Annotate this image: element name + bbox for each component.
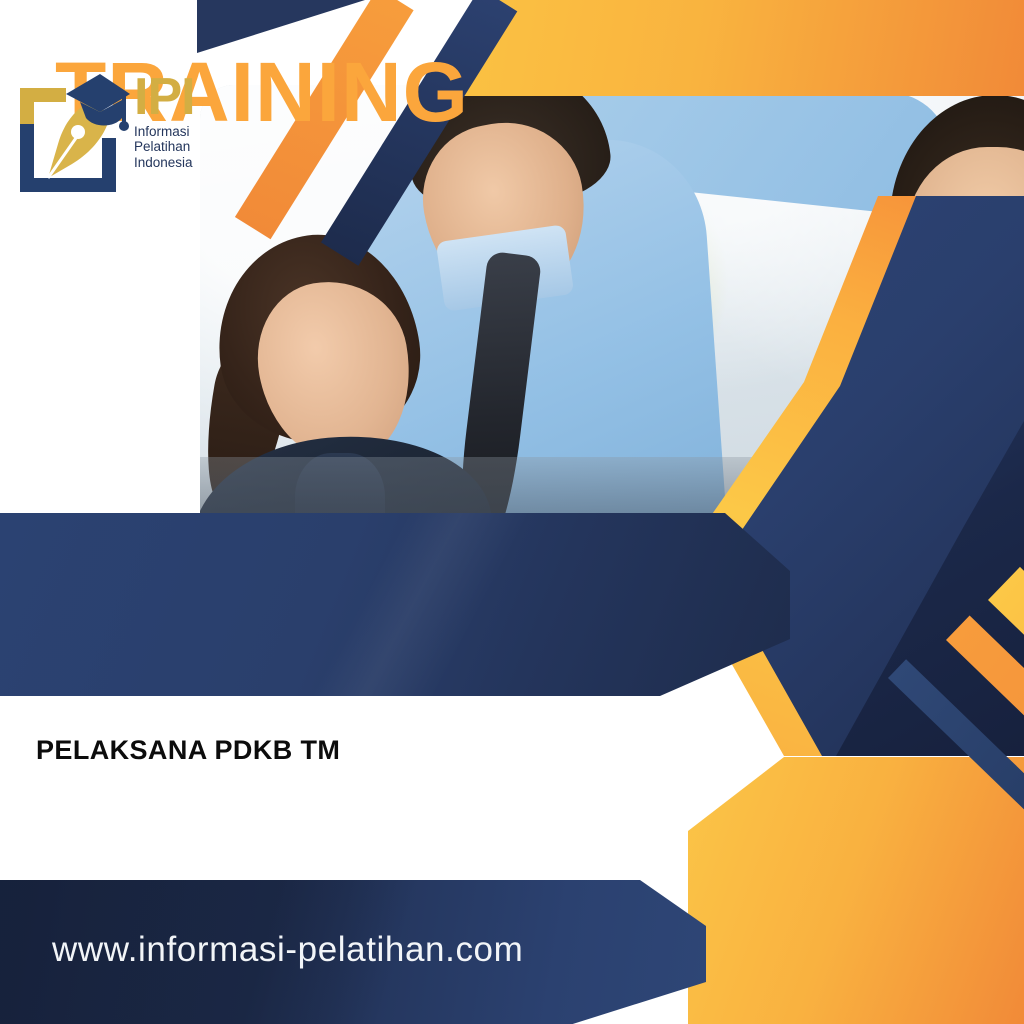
training-poster: TRAINING PELAKSANA PDKB TM www.informasi… xyxy=(0,0,1024,1024)
logo[interactable]: IPI Informasi Pelatihan Indonesia xyxy=(14,72,210,200)
square-frame-icon xyxy=(20,88,66,124)
course-subtitle: PELAKSANA PDKB TM xyxy=(36,735,340,766)
training-banner xyxy=(0,513,790,696)
logo-text: IPI Informasi Pelatihan Indonesia xyxy=(134,74,220,171)
logo-mark xyxy=(14,72,130,192)
logo-tagline-line3: Indonesia xyxy=(134,155,220,171)
logo-tagline: Informasi Pelatihan Indonesia xyxy=(134,124,220,171)
logo-tagline-line1: Informasi xyxy=(134,124,220,140)
right-chevron-decoration xyxy=(664,196,1024,756)
website-url[interactable]: www.informasi-pelatihan.com xyxy=(52,930,523,970)
banner-sheen xyxy=(0,513,790,696)
top-orange-block xyxy=(442,0,1024,96)
bottom-right-orange-block xyxy=(688,757,1024,1024)
logo-tagline-line2: Pelatihan xyxy=(134,139,220,155)
logo-abbr: IPI xyxy=(134,74,220,122)
